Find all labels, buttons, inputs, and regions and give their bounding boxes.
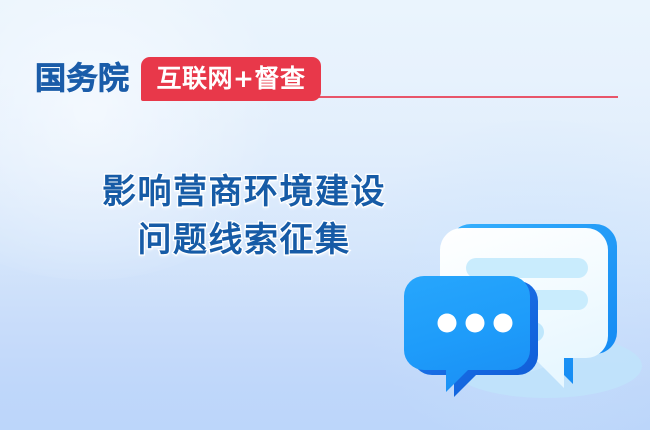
page-title-line-2: 问题线索征集 [34, 216, 454, 264]
header-divider-rule [288, 96, 618, 98]
promo-banner: 国务院 互联网+督查 影响营商环境建设 问题线索征集 [0, 0, 650, 430]
typing-dot [494, 314, 513, 333]
bubble-line-bar [466, 258, 588, 278]
typing-dot [438, 314, 457, 333]
chat-bubbles-illustration [398, 196, 650, 430]
logo-lockup: 国务院 互联网+督查 [35, 58, 321, 100]
page-title: 影响营商环境建设 问题线索征集 [34, 168, 454, 264]
page-title-line-1: 影响营商环境建设 [34, 168, 454, 216]
government-wordmark: 国务院 [35, 64, 130, 95]
typing-dot [466, 314, 485, 333]
campaign-badge: 互联网+督查 [141, 57, 322, 101]
